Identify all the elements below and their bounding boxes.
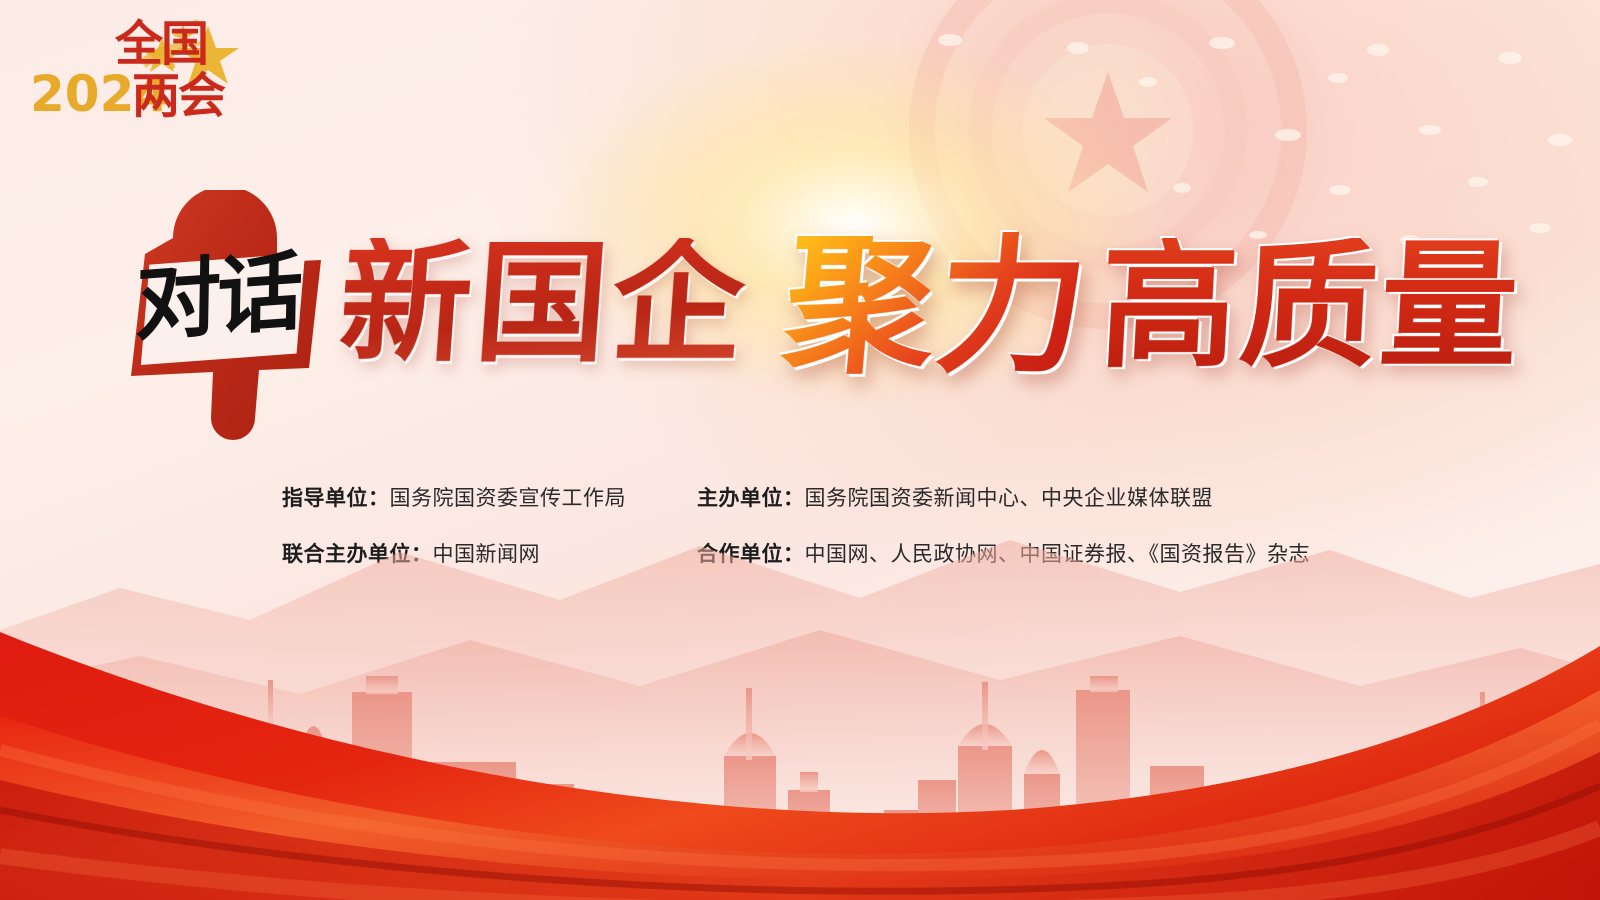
- dialogue-badge: 对话: [95, 190, 355, 455]
- title-segment-new-soe: 新国企: [335, 238, 752, 370]
- logo-name-line2: 两会: [132, 68, 226, 123]
- logo-name-line1: 全国: [114, 16, 207, 72]
- poster-canvas: 2024 全国 两会 对话 新国企: [0, 0, 1600, 900]
- title-segment-juli: 聚力: [778, 232, 1095, 382]
- badge-label: 对话: [134, 235, 326, 369]
- main-title: 对话 新国企 聚力 高质量: [95, 190, 1515, 460]
- bottom-scene: [0, 480, 1600, 900]
- title-segment-high-quality: 高质量: [1096, 238, 1523, 376]
- watermark-star-icon: [1044, 72, 1172, 192]
- national-two-sessions-logo: 2024 全国 两会: [20, 8, 270, 123]
